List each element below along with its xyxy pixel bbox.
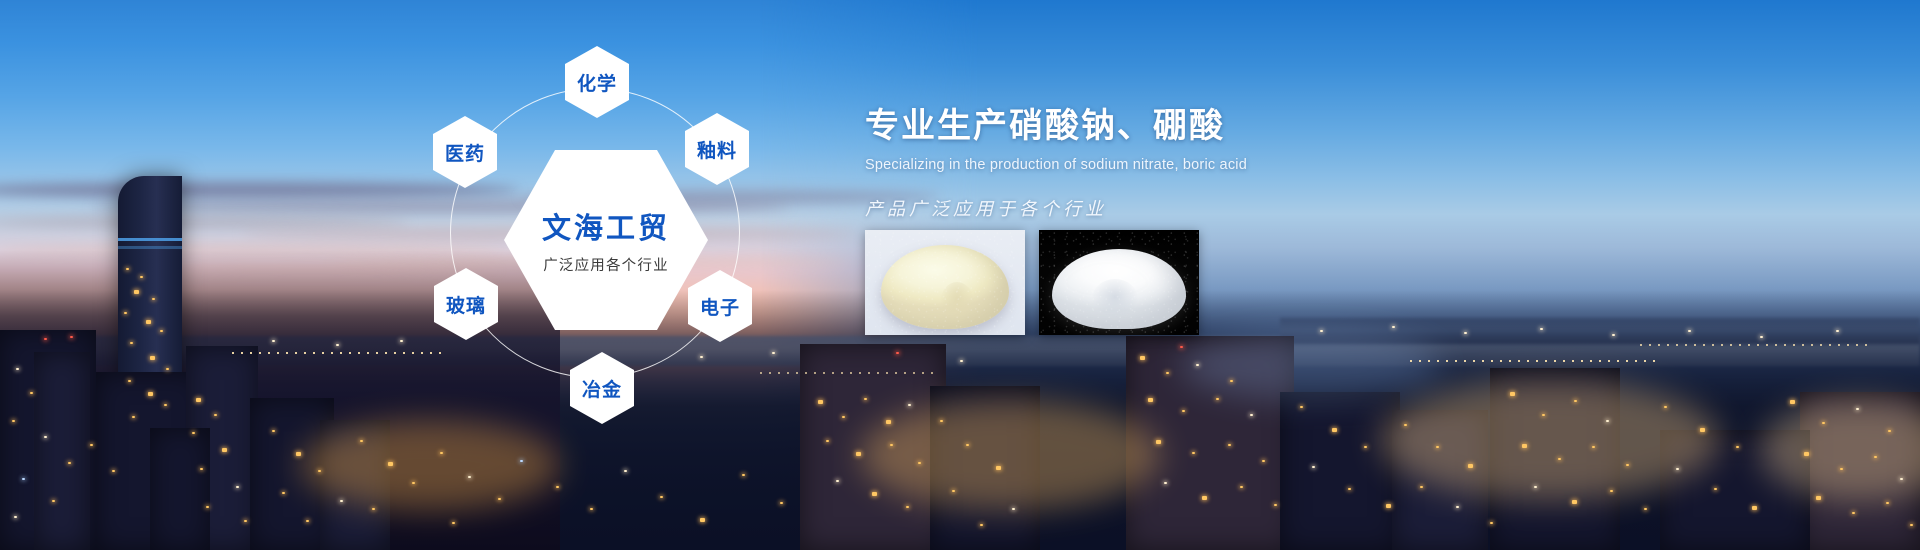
headline: 专业生产硝酸钠、硼酸 (865, 105, 1565, 148)
product-photo-boric-acid (1039, 230, 1199, 335)
headline-block: 专业生产硝酸钠、硼酸 Specializing in the productio… (865, 105, 1565, 221)
product-photo-strip (865, 230, 1199, 335)
company-tagline: 广泛应用各个行业 (543, 254, 669, 275)
headline-english: Specializing in the production of sodium… (865, 157, 1565, 173)
product-photo-sodium-nitrate (865, 230, 1025, 335)
industry-hex-diagram: 化学 釉料 电子 冶金 玻璃 医药 文海工贸 广泛应用各个行业 (420, 0, 840, 550)
company-name: 文海工贸 (542, 205, 670, 247)
promo-banner: 化学 釉料 电子 冶金 玻璃 医药 文海工贸 广泛应用各个行业 专业生产硝酸钠、… (0, 0, 1920, 550)
tagline: 产品广泛应用于各个行业 (865, 195, 1565, 221)
